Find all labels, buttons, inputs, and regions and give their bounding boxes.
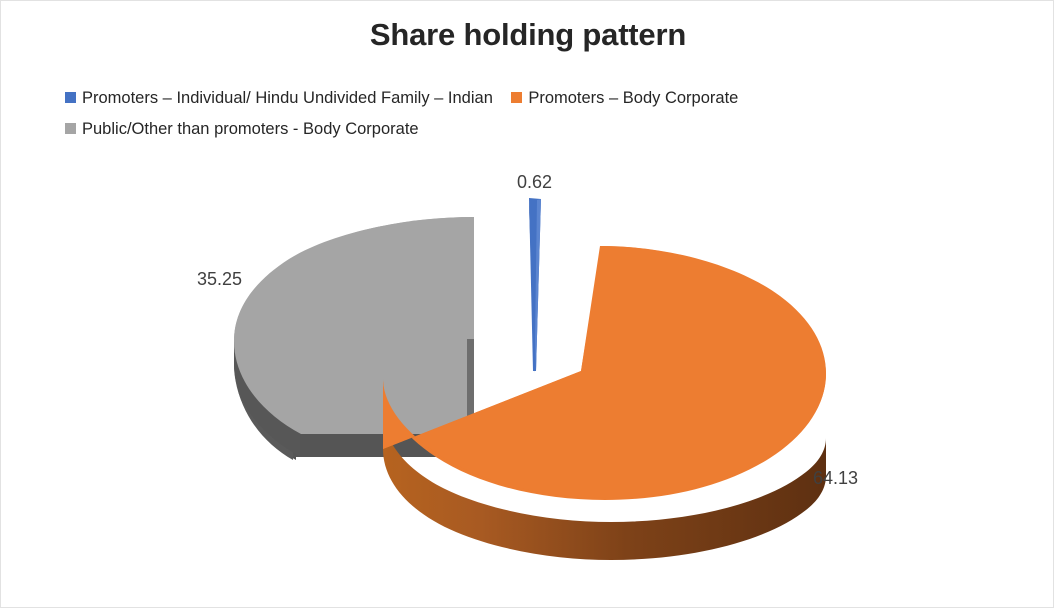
- pie-slice-promoters-individual[interactable]: [529, 198, 541, 373]
- pie-slice-gray-top-arc: [234, 217, 474, 434]
- chart-container[interactable]: Share holding pattern Promoters – Indivi…: [0, 0, 1054, 608]
- pie-chart-svg: [1, 1, 1054, 608]
- data-label-promoters-individual: 0.62: [517, 172, 552, 193]
- data-label-public-body-corporate: 35.25: [197, 269, 242, 290]
- data-label-promoters-body-corporate: 64.13: [813, 468, 858, 489]
- pie-plot-area: 0.62 35.25 64.13: [1, 1, 1054, 608]
- pie-slice-public-body-corporate[interactable]: [234, 217, 474, 460]
